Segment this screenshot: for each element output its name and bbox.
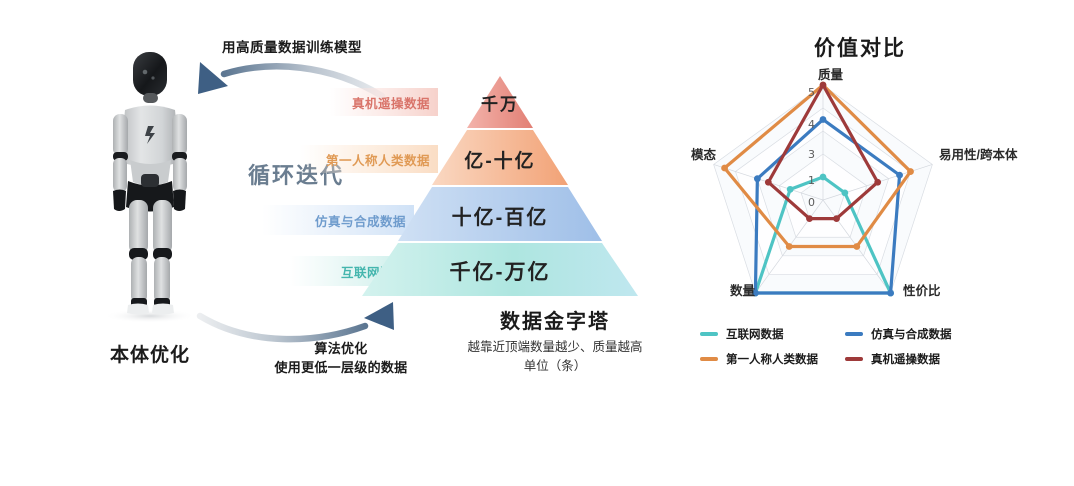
radar-axis-label-3: 数量 <box>730 284 755 300</box>
radar-plot <box>690 70 990 310</box>
legend-swatch-icon-1 <box>845 332 863 336</box>
legend-swatch-icon-2 <box>700 357 718 361</box>
humanoid-robot-icon <box>85 48 215 323</box>
radar-tick-4: 4 <box>808 118 815 131</box>
bottom-arrow-label: 算法优化 使用更低一层级的数据 <box>246 340 436 378</box>
pyramid-subtitle: 越靠近顶端数量越少、质量越高 单位（条） <box>420 338 690 376</box>
data-pyramid: 千万 亿-十亿 十亿-百亿 千亿-万亿 <box>330 68 670 298</box>
legend-label-2: 第一人称人类数据 <box>726 351 818 367</box>
radar-axis-label-1-text: 易用性/跨本体 <box>939 148 1017 162</box>
legend-label-0: 互联网数据 <box>726 326 784 342</box>
pyramid-value-3: 十亿-百亿 <box>415 201 585 230</box>
legend-item-2: 第一人称人类数据 <box>700 351 845 367</box>
radar-tick-1: 1 <box>808 174 815 187</box>
radar-axis-label-0: 质量 <box>818 68 843 84</box>
radar-axis-label-4: 模态 <box>691 148 716 164</box>
bottom-arrow-label-line2: 使用更低一层级的数据 <box>246 359 436 378</box>
pyramid-title: 数据金字塔 <box>430 305 680 334</box>
pyramid-subtitle-line1: 越靠近顶端数量越少、质量越高 <box>420 338 690 357</box>
legend-row-1: 互联网数据 仿真与合成数据 <box>700 326 990 342</box>
robot-caption: 本体优化 <box>60 340 240 367</box>
bottom-arrow-label-line1: 算法优化 <box>246 340 436 359</box>
radar-tick-3: 3 <box>808 148 815 161</box>
top-arrow-label: 用高质量数据训练模型 <box>222 36 362 56</box>
radar-axis-label-2: 性价比 <box>903 284 941 300</box>
infographic-canvas: 本体优化 用高质量数据训练模型 循环迭代 算法优化 使用更低一层级的数据 真机遥 <box>0 0 1074 486</box>
pyramid-value-2: 亿-十亿 <box>430 146 570 173</box>
legend-item-1: 仿真与合成数据 <box>845 326 990 342</box>
radar-tick-0: 0 <box>808 196 815 209</box>
radar-axis-label-1: 易用性/跨本体 <box>939 148 1017 164</box>
legend-swatch-icon-0 <box>700 332 718 336</box>
radar-title: 价值对比 <box>760 32 960 62</box>
legend-swatch-icon-3 <box>845 357 863 361</box>
pyramid-value-1: 千万 <box>450 90 550 115</box>
pyramid-value-4: 千亿-万亿 <box>410 256 590 286</box>
radar-chart: 质量 易用性/跨本体 性价比 数量 模态 5 4 3 1 0 <box>690 70 990 310</box>
legend-label-3: 真机遥操数据 <box>871 351 940 367</box>
legend-label-1: 仿真与合成数据 <box>871 326 952 342</box>
radar-tick-5: 5 <box>808 86 815 99</box>
legend-item-3: 真机遥操数据 <box>845 351 990 367</box>
legend-item-0: 互联网数据 <box>700 326 845 342</box>
pyramid-subtitle-line2: 单位（条） <box>420 357 690 376</box>
legend-row-2: 第一人称人类数据 真机遥操数据 <box>700 351 990 367</box>
radar-legend: 互联网数据 仿真与合成数据 第一人称人类数据 真机遥操数据 <box>700 326 990 376</box>
robot-illustration <box>85 48 215 323</box>
